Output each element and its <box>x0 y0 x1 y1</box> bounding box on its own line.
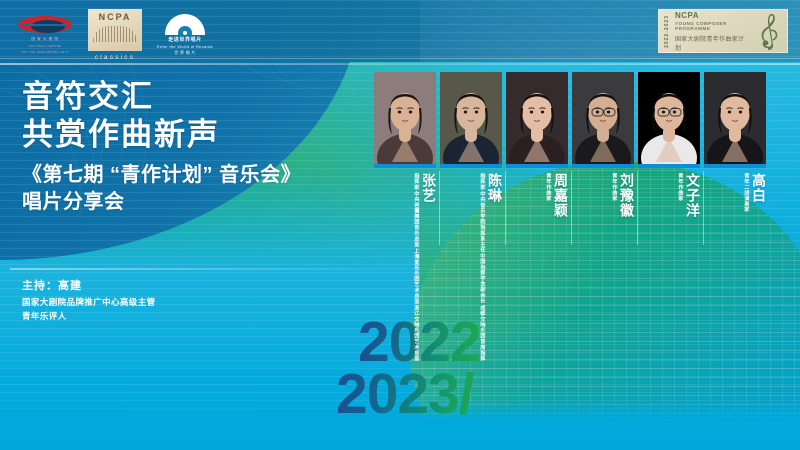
ycp-subtitle: YOUNG COMPOSER PROGRAMME <box>675 21 750 31</box>
participant-name: 刘豫徽 <box>619 173 634 218</box>
participants-row: 张艺指挥家中央芭蕾舞团音乐总监上海爱乐乐团艺术总监浙江交响乐团艺术总监陈琳指挥家… <box>374 72 766 253</box>
ycp-cn: 国家大剧院青年作曲家计划 <box>675 34 750 52</box>
participant-role: 中央音乐学院指挥系主任 <box>478 191 486 253</box>
participant-roles: 青年作曲家 <box>610 173 618 201</box>
participant-underline <box>440 164 502 168</box>
host-title: 国家大剧院品牌推广中心高级主管 <box>22 295 156 309</box>
ycp-years: 2022-2023 <box>665 15 670 48</box>
ncpa-mark-icon <box>18 15 72 35</box>
participant-info: 周嘉颖青年作曲家 <box>506 173 568 253</box>
ncpa-logo-text-cn: 国 家 大 剧 院 <box>31 37 58 43</box>
participant-portrait <box>506 72 568 164</box>
participant-name: 文子洋 <box>685 173 700 218</box>
participant-role: 上海爱乐乐团艺术总监 <box>412 248 420 304</box>
participant-role: 浙江交响乐团艺术总监 <box>412 305 420 361</box>
classics-arc-icon <box>93 26 137 42</box>
vinyl-disc-icon <box>165 14 205 35</box>
participant-role: 成都交响乐团首席指挥 <box>478 305 486 361</box>
world-of-records-logo[interactable]: 走进世界唱片 Enter the World of Records 世 界 唱 … <box>156 14 214 56</box>
participant-name: 高白 <box>751 173 766 203</box>
participant-roles: 青年作曲家 <box>544 173 552 201</box>
season-year-1: 2022 <box>358 316 481 368</box>
participant-name: 张艺 <box>421 173 436 203</box>
host-name: 主持：高建 <box>22 278 156 295</box>
participant-card[interactable]: 文子洋青年作曲家 <box>638 72 700 253</box>
participant-roles: 指挥家中央芭蕾舞团音乐总监上海爱乐乐团艺术总监浙江交响乐团艺术总监 <box>412 173 420 361</box>
participant-info: 文子洋青年作曲家 <box>638 173 700 253</box>
participant-card[interactable]: 张艺指挥家中央芭蕾舞团音乐总监上海爱乐乐团艺术总监浙江交响乐团艺术总监 <box>374 72 436 253</box>
participant-name: 周嘉颖 <box>553 173 568 218</box>
participant-role: 青年作曲家 <box>610 173 618 201</box>
participant-portrait <box>374 72 436 164</box>
ncpa-logo-text-en2: FOR THE PERFORMING ARTS <box>21 51 69 55</box>
participant-info: 高白青年二胡演奏家 <box>704 173 766 253</box>
poster-canvas: 国 家 大 剧 院 NATIONAL CENTRE FOR THE PERFOR… <box>0 0 800 450</box>
ycp-title: NCPA <box>675 11 750 20</box>
participant-underline <box>374 164 436 168</box>
participant-role: 青年作曲家 <box>676 173 684 201</box>
participant-info: 陈琳指挥家中央音乐学院指挥系主任中国指挥学会副会长成都交响乐团首席指挥 <box>440 173 502 253</box>
title-main-line2: 共赏作曲新声 <box>22 116 372 154</box>
participant-card[interactable]: 高白青年二胡演奏家 <box>704 72 766 253</box>
title-block: 音符交汇 共赏作曲新声 《第七期 “青作计划” 音乐会》 唱片分享会 <box>22 78 372 216</box>
ncpa-logo-text-en1: NATIONAL CENTRE <box>28 45 61 49</box>
participant-role: 指挥家 <box>412 173 420 190</box>
season-years: 2022 2023/ <box>358 316 481 421</box>
ncpa-logo[interactable]: 国 家 大 剧 院 NATIONAL CENTRE FOR THE PERFOR… <box>16 15 74 55</box>
participant-underline <box>572 164 634 168</box>
world-records-cn: 走进世界唱片 <box>157 37 213 45</box>
participant-role: 青年作曲家 <box>544 173 552 201</box>
participant-info: 刘豫徽青年作曲家 <box>572 173 634 253</box>
classics-abbr: NCPA <box>99 12 132 22</box>
title-sub-line2: 唱片分享会 <box>22 189 372 216</box>
title-main-line1: 音符交汇 <box>22 78 372 116</box>
participant-underline <box>704 164 766 168</box>
season-year-2: 2023/ <box>336 368 481 420</box>
participant-portrait <box>572 72 634 164</box>
participant-underline <box>506 164 568 168</box>
participant-role: 中央芭蕾舞团音乐总监 <box>412 191 420 247</box>
treble-clef-icon <box>755 13 781 49</box>
classics-wordmark: classics <box>95 54 135 61</box>
participant-portrait <box>440 72 502 164</box>
logo-bar: 国 家 大 剧 院 NATIONAL CENTRE FOR THE PERFOR… <box>16 9 214 61</box>
participant-role: 中国指挥学会副会长 <box>478 253 486 303</box>
title-sub-line1: 《第七期 “青作计划” 音乐会》 <box>22 162 372 189</box>
participant-portrait <box>704 72 766 164</box>
ncpa-classics-logo[interactable]: NCPA classics <box>88 9 142 61</box>
young-composer-programme-logo[interactable]: 2022-2023 NCPA YOUNG COMPOSER PROGRAMME … <box>658 9 788 53</box>
participant-role: 指挥家 <box>478 173 486 190</box>
participant-card[interactable]: 陈琳指挥家中央音乐学院指挥系主任中国指挥学会副会长成都交响乐团首席指挥 <box>440 72 502 253</box>
participant-card[interactable]: 周嘉颖青年作曲家 <box>506 72 568 253</box>
participant-roles: 青年二胡演奏家 <box>742 173 750 212</box>
host-block: 主持：高建 国家大剧院品牌推广中心高级主管 青年乐评人 <box>22 278 156 323</box>
background-hairline <box>0 63 800 65</box>
host-role: 青年乐评人 <box>22 309 156 323</box>
participant-card[interactable]: 刘豫徽青年作曲家 <box>572 72 634 253</box>
participant-info: 张艺指挥家中央芭蕾舞团音乐总监上海爱乐乐团艺术总监浙江交响乐团艺术总监 <box>374 173 436 253</box>
background-hairline-mid <box>10 268 800 270</box>
participant-portrait <box>638 72 700 164</box>
participant-roles: 指挥家中央音乐学院指挥系主任中国指挥学会副会长成都交响乐团首席指挥 <box>478 173 486 361</box>
participant-name: 陈琳 <box>487 173 502 203</box>
world-records-sub: 世 界 唱 片 <box>157 50 213 56</box>
participant-role: 青年二胡演奏家 <box>742 173 750 212</box>
participant-underline <box>638 164 700 168</box>
participant-roles: 青年作曲家 <box>676 173 684 201</box>
